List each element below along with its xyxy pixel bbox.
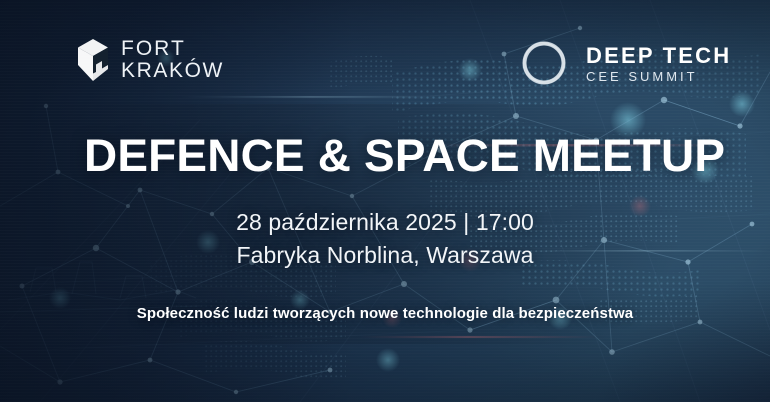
event-banner: FORT KRAKÓW <box>0 0 770 402</box>
fort-logo-line1: FORT <box>121 38 224 60</box>
event-date-time: 28 października 2025 | 17:00 <box>0 206 770 239</box>
fort-krakow-wordmark: FORT KRAKÓW <box>121 38 224 83</box>
event-details: 28 października 2025 | 17:00 Fabryka Nor… <box>0 206 770 271</box>
event-tagline: Społeczność ludzi tworzących nowe techno… <box>0 305 770 322</box>
deep-tech-wordmark: DEEP TECH CEE SUMMIT <box>586 42 731 84</box>
woven-ring-icon <box>514 33 574 93</box>
fort-bastion-isometric-icon <box>76 38 110 82</box>
deep-tech-cee-summit-logo: DEEP TECH CEE SUMMIT <box>514 33 731 93</box>
deep-tech-line2: CEE SUMMIT <box>586 69 731 85</box>
page-title: DEFENCE & SPACE MEETUP <box>84 133 725 178</box>
deep-tech-line1: DEEP TECH <box>586 44 731 68</box>
event-venue: Fabryka Norblina, Warszawa <box>0 239 770 272</box>
fort-krakow-logo: FORT KRAKÓW <box>76 38 224 83</box>
fort-logo-line2: KRAKÓW <box>121 60 224 82</box>
